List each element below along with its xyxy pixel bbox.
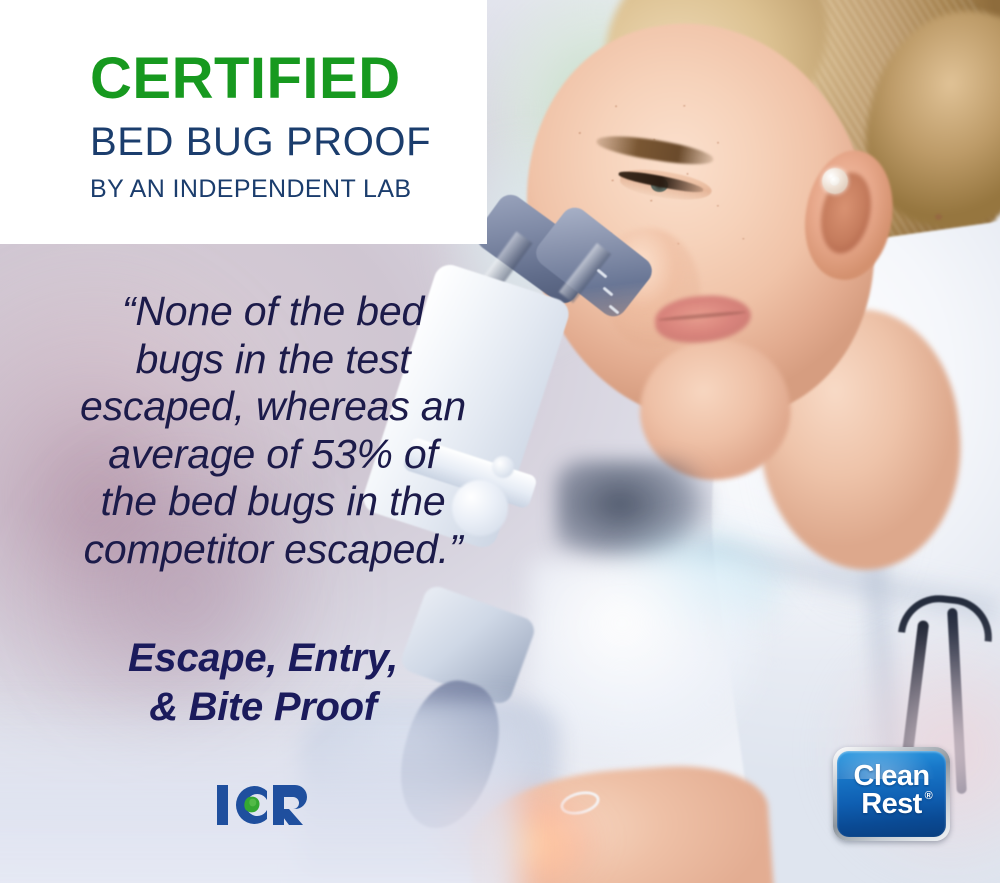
lab-test-quote: “None of the bed bugs in the test escape… [28, 288, 518, 573]
icr-logo [215, 782, 315, 828]
icr-logo-mark [215, 782, 315, 828]
registered-trademark-icon: ® [925, 791, 933, 802]
photo-lab-white-surface [530, 560, 760, 770]
cleanrest-logo[interactable]: Clean Rest ® [833, 747, 950, 841]
photo-earring-stone [830, 176, 840, 186]
photo-mole [935, 214, 942, 220]
cleanrest-logo-line-rest: Rest [861, 788, 921, 820]
quote-line: the bed bugs in the [28, 478, 518, 526]
quote-line: bugs in the test [28, 336, 518, 384]
quote-line: escaped, whereas an [28, 383, 518, 431]
tagline-line: & Bite Proof [28, 683, 498, 732]
cleanrest-logo-line-clean: Clean [837, 762, 946, 790]
poster-canvas: CERTIFIED BED BUG PROOF BY AN INDEPENDEN… [0, 0, 1000, 883]
certification-badge: CERTIFIED BED BUG PROOF BY AN INDEPENDEN… [0, 0, 487, 244]
badge-authority-line: BY AN INDEPENDENT LAB [90, 177, 487, 202]
product-tagline: Escape, Entry, & Bite Proof [28, 634, 498, 732]
cleanrest-logo-text: Clean Rest ® [837, 762, 946, 819]
quote-line: average of 53% of [28, 431, 518, 479]
badge-product-claim: BED BUG PROOF [90, 122, 487, 162]
badge-certified-heading: CERTIFIED [90, 50, 487, 108]
quote-line: “None of the bed [28, 288, 518, 336]
quote-line: competitor escaped.” [28, 526, 518, 574]
tagline-line: Escape, Entry, [28, 634, 498, 683]
cleanrest-logo-line-rest-wrap: Rest ® [861, 790, 921, 818]
cleanrest-logo-plate: Clean Rest ® [837, 751, 946, 837]
